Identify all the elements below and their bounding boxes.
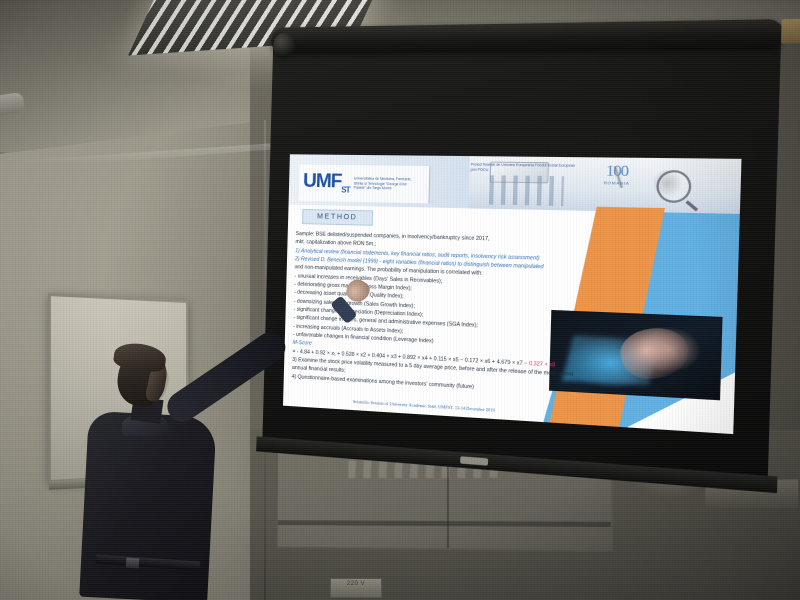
slide-section-tab: METHOD [302,209,373,226]
socket-label: 220 V [331,581,381,587]
umf-letters-sub: ST [341,185,350,194]
university-logo: UMFST Universitatea de Medicina, Farmaci… [299,164,431,203]
funding-note: Proiect finantat de Uniunea Europeana Fo… [471,162,576,174]
wall-socket-box: 220 V [330,578,382,598]
slide-header-banner: UMFST Universitatea de Medicina, Farmaci… [289,154,742,214]
presenter-pointing-arm [162,327,292,428]
centenary-number: 100 [586,164,648,181]
centenary-country-label: ROMANIA [586,180,647,186]
university-full-name: Universitatea de Medicina, Farmacie, Sti… [354,176,418,192]
umf-letters: UMF [303,171,342,193]
projector-screen-assembly: UMFST Universitatea de Medicina, Farmaci… [252,12,800,500]
projector-screen-roller[interactable] [271,19,784,54]
bar-chart-icon [489,175,564,206]
umf-wordmark: UMFST [299,172,350,195]
magnifier-icon [656,170,692,203]
photo-scene: 220 V UMFST Uni [0,0,800,600]
whiteboard-right-tray [278,520,611,527]
screen-pull-handle[interactable] [460,456,488,465]
formula-highlight: 0.327 × x8 [529,360,556,368]
presenter-belt-buckle [126,558,140,569]
centenary-logo: 100 ROMANIA [586,164,648,186]
presenter-torso [79,411,217,600]
presenter-person [78,322,308,600]
roller-wall-bracket [781,19,800,44]
